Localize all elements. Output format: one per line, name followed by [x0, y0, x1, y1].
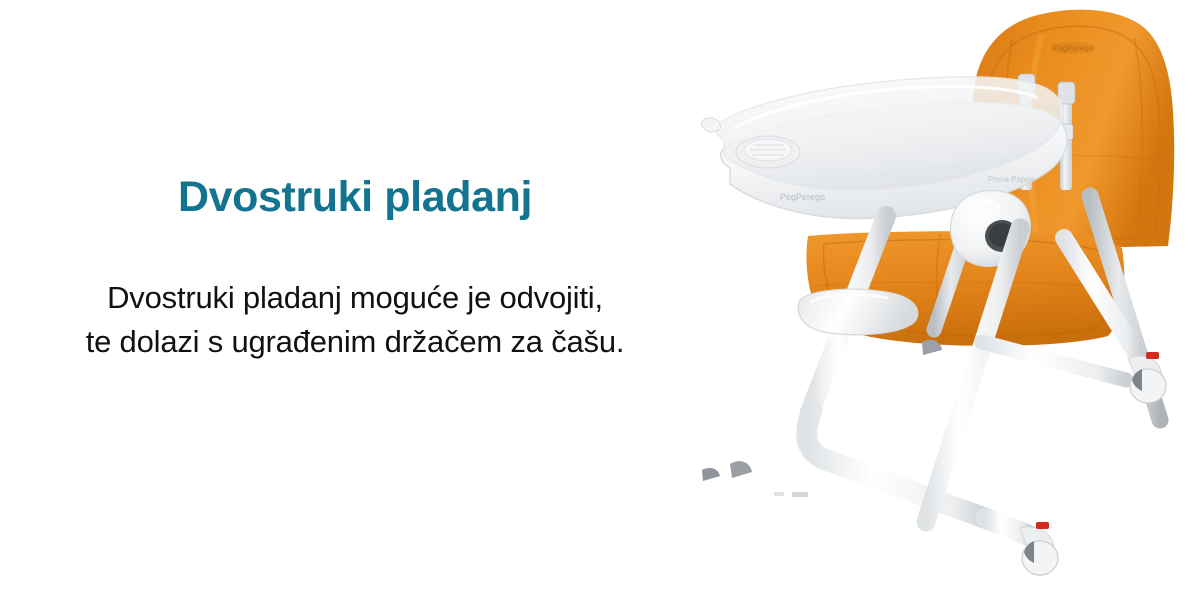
product-image: PegPerego: [690, 0, 1200, 600]
feature-text-column: Dvostruki pladanj Dvostruki pladanj mogu…: [0, 0, 710, 600]
footrest: [798, 289, 917, 335]
brand-logo-tray: PegPerego: [780, 192, 825, 202]
high-chair-illustration: PegPerego: [690, 0, 1200, 600]
feature-description: Dvostruki pladanj moguće je odvojiti, te…: [0, 276, 710, 364]
feature-description-line-2: te dolazi s ugrađenim držačem za čašu.: [0, 320, 710, 364]
product-feature-banner: Dvostruki pladanj Dvostruki pladanj mogu…: [0, 0, 1200, 600]
page-title: Dvostruki pladanj: [0, 172, 710, 222]
frame-label: [774, 492, 808, 497]
brand-logo-backrest: PegPerego: [1051, 42, 1095, 54]
svg-text:Prima Pappa: Prima Pappa: [988, 175, 1035, 184]
model-label: Prima Pappa: [988, 175, 1035, 184]
brake-tab: [1146, 352, 1159, 359]
brake-tab: [1036, 522, 1049, 529]
svg-text:PegPerego: PegPerego: [1053, 44, 1094, 53]
cup-holder: [736, 136, 800, 168]
feature-description-line-1: Dvostruki pladanj moguće je odvojiti,: [0, 276, 710, 320]
